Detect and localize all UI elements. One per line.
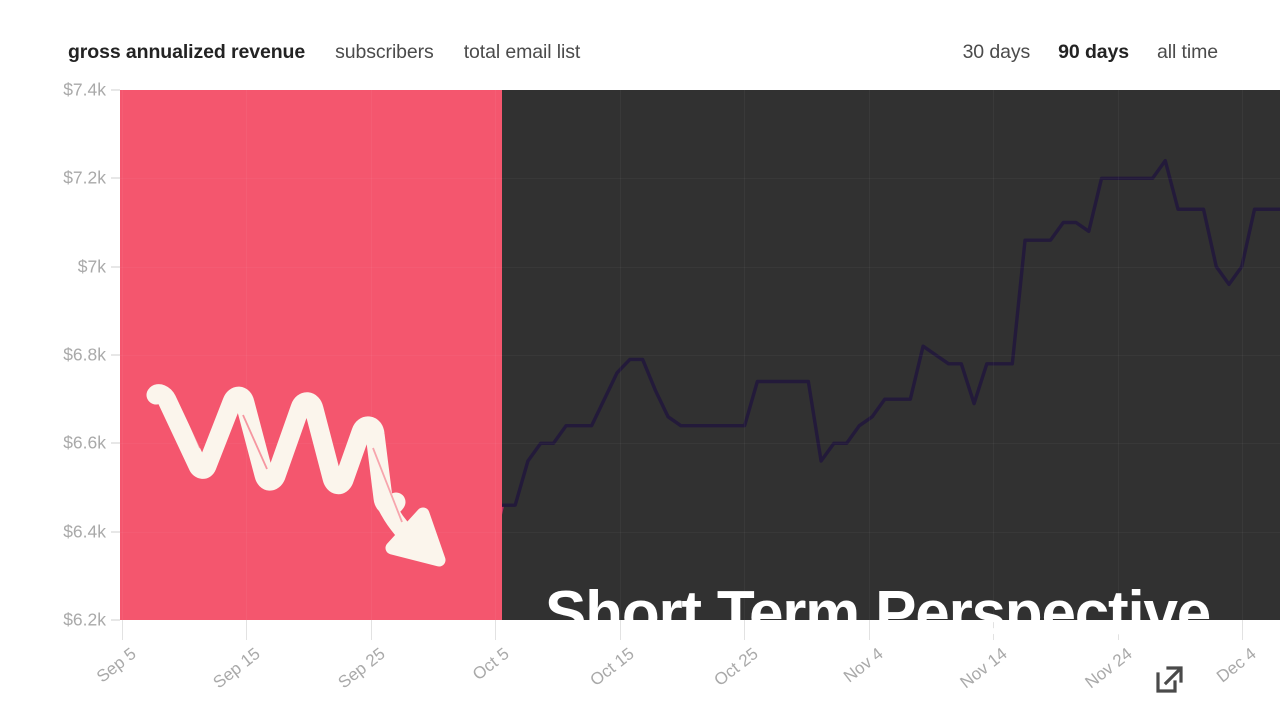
y-axis-tick xyxy=(111,531,120,532)
y-axis-tick xyxy=(111,90,120,91)
x-axis-label: Sep 15 xyxy=(210,644,265,693)
y-axis-label: $7.4k xyxy=(63,80,106,101)
vertical-gridline xyxy=(993,90,994,620)
horizontal-gridline xyxy=(120,355,1280,356)
metric-tab-group: gross annualized revenue subscribers tot… xyxy=(68,40,580,64)
time-range-tab-group: 30 days 90 days all time xyxy=(963,40,1218,64)
tab-range-all-time[interactable]: all time xyxy=(1157,40,1218,64)
x-axis-tick xyxy=(1242,620,1243,640)
y-axis-tick xyxy=(111,266,120,267)
vertical-gridline xyxy=(620,90,621,620)
x-axis-label: Nov 14 xyxy=(957,644,1012,693)
horizontal-gridline xyxy=(120,443,1280,444)
vertical-gridline xyxy=(122,90,123,620)
x-axis-tick xyxy=(246,620,247,640)
vertical-gridline xyxy=(1118,90,1119,620)
x-axis-label: Oct 25 xyxy=(711,644,763,691)
chart-header: gross annualized revenue subscribers tot… xyxy=(0,0,1280,90)
x-axis-tick xyxy=(495,620,496,640)
y-axis-tick xyxy=(111,443,120,444)
y-axis-label: $7k xyxy=(78,256,106,277)
y-axis-tick xyxy=(111,178,120,179)
external-link-icon[interactable] xyxy=(1152,662,1186,696)
vertical-gridline xyxy=(744,90,745,620)
vertical-gridline xyxy=(495,90,496,620)
vertical-gridline xyxy=(1242,90,1243,620)
tab-gross-annualized-revenue[interactable]: gross annualized revenue xyxy=(68,40,305,64)
revenue-dashboard-chart-page: gross annualized revenue subscribers tot… xyxy=(0,0,1280,720)
x-axis-label: Sep 25 xyxy=(334,644,389,693)
tab-range-30-days[interactable]: 30 days xyxy=(963,40,1031,64)
horizontal-gridline xyxy=(120,267,1280,268)
x-axis-label: Dec 4 xyxy=(1213,644,1260,687)
vertical-gridline xyxy=(371,90,372,620)
y-axis-label: $6.4k xyxy=(63,521,106,542)
y-axis-label: $6.6k xyxy=(63,433,106,454)
x-axis-label: Nov 24 xyxy=(1081,644,1136,693)
horizontal-gridline xyxy=(120,178,1280,179)
tab-range-90-days[interactable]: 90 days xyxy=(1058,40,1129,64)
x-axis-label: Sep 5 xyxy=(93,644,140,687)
tab-subscribers[interactable]: subscribers xyxy=(335,40,434,64)
y-axis-label: $6.8k xyxy=(63,345,106,366)
plot-area[interactable] xyxy=(120,90,1280,620)
x-axis-tick xyxy=(122,620,123,640)
x-axis-label: Oct 15 xyxy=(586,644,638,691)
overlay-title: Short Term Perspective xyxy=(545,583,1210,645)
x-axis-label: Nov 4 xyxy=(840,644,887,687)
y-axis-tick xyxy=(111,620,120,621)
vertical-gridline xyxy=(246,90,247,620)
horizontal-gridline xyxy=(120,532,1280,533)
x-axis-tick xyxy=(371,620,372,640)
y-axis-label: $6.2k xyxy=(63,610,106,631)
y-axis: $7.4k$7.2k$7k$6.8k$6.6k$6.4k$6.2k xyxy=(0,90,120,650)
tab-total-email-list[interactable]: total email list xyxy=(464,40,581,64)
y-axis-tick xyxy=(111,355,120,356)
vertical-gridline xyxy=(869,90,870,620)
chart-container: $7.4k$7.2k$7k$6.8k$6.6k$6.4k$6.2k Sep 5S… xyxy=(0,90,1280,720)
y-axis-label: $7.2k xyxy=(63,168,106,189)
x-axis-label: Oct 5 xyxy=(469,644,513,685)
